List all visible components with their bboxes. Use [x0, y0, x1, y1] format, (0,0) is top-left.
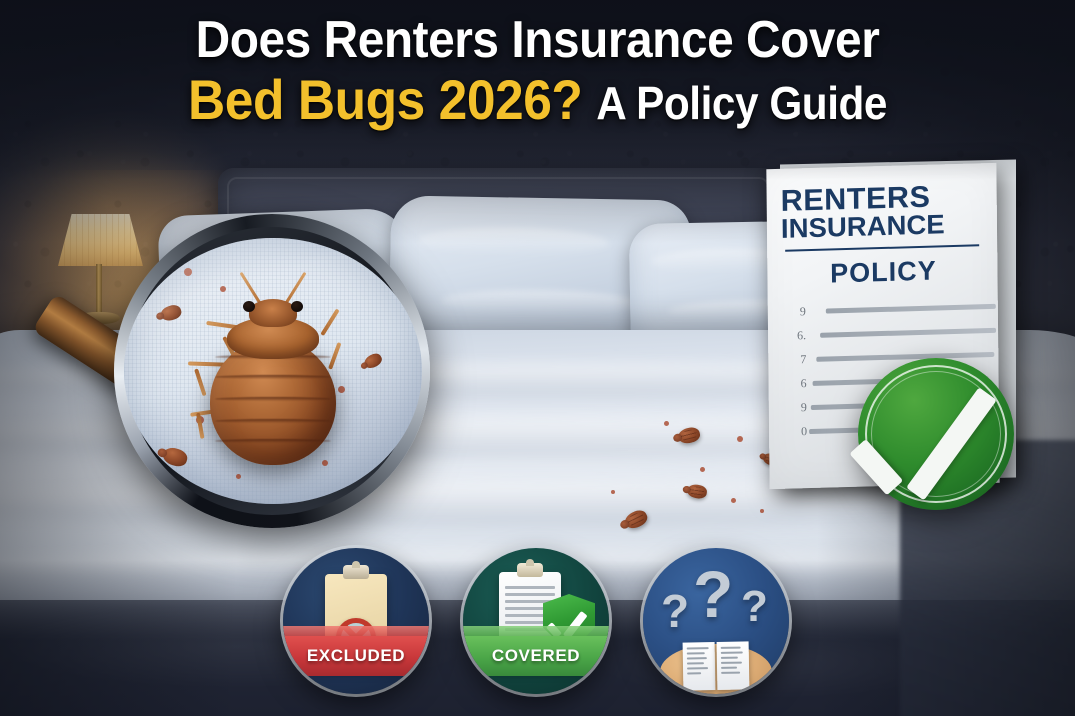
document-page	[717, 641, 750, 690]
policy-heading-line2: INSURANCE	[781, 211, 985, 243]
badge-label: COVERED	[492, 646, 580, 666]
title-line-2: Bed Bugs 2026? A Policy Guide	[43, 72, 1032, 128]
policy-line-number: 6.	[786, 328, 806, 344]
stain-spot	[236, 474, 241, 479]
badge-question[interactable]: ? ? ?	[643, 548, 789, 694]
hero-image: RENTERS INSURANCE POLICY 9 6. 7	[0, 0, 1075, 716]
policy-heading: RENTERS INSURANCE	[781, 181, 986, 243]
clipboard-clip	[343, 565, 369, 579]
clipboard-clip	[517, 563, 543, 577]
question-mark-icon: ?	[741, 582, 768, 632]
policy-text-bar	[826, 304, 996, 314]
title-line-1: Does Renters Insurance Cover	[43, 14, 1032, 66]
policy-subheading: POLICY	[783, 255, 983, 292]
title-subtitle: A Policy Guide	[596, 77, 887, 129]
policy-divider	[785, 244, 979, 252]
checkmark-icon	[878, 374, 1028, 494]
policy-line-number: 0	[787, 424, 807, 440]
question-mark-icon: ?	[661, 584, 689, 638]
page-title: Does Renters Insurance Cover Bed Bugs 20…	[0, 14, 1075, 128]
policy-line-number: 6	[787, 376, 807, 392]
question-mark-icon: ?	[693, 556, 733, 632]
policy-line-number: 9	[786, 304, 806, 320]
policy-line-number: 7	[786, 352, 806, 368]
badge-label: EXCLUDED	[307, 646, 405, 666]
title-highlight: Bed Bugs 2026?	[188, 68, 582, 131]
badge-ribbon: COVERED	[463, 636, 609, 676]
magnifier-lens	[124, 238, 422, 504]
ribbon-lip	[463, 626, 609, 636]
check-circle-icon	[858, 358, 1014, 510]
magnifying-glass-icon	[98, 212, 448, 530]
policy-line-number: 9	[787, 400, 807, 416]
document-icon	[683, 641, 750, 690]
document-page	[683, 642, 716, 691]
badge-excluded[interactable]: EXCLUDED	[283, 548, 429, 694]
ribbon-lip	[283, 626, 429, 636]
policy-text-bar	[820, 328, 996, 338]
badge-covered[interactable]: COVERED	[463, 548, 609, 694]
badge-ribbon: EXCLUDED	[283, 636, 429, 676]
